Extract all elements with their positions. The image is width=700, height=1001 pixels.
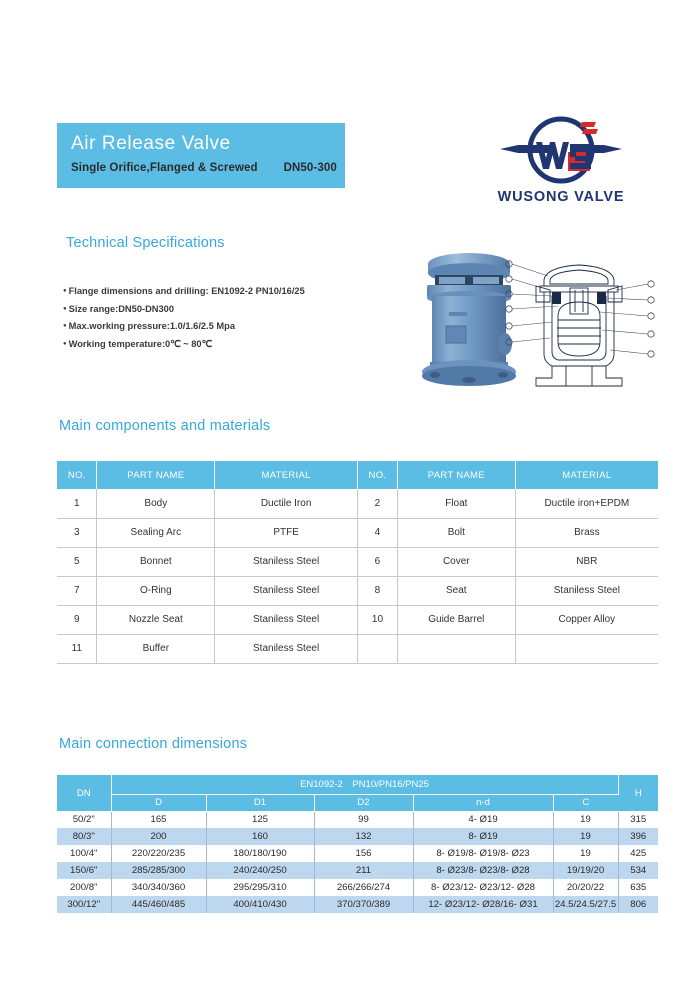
header-part-name-2: PART NAME (397, 461, 515, 489)
cell-c: 19/19/20 (553, 862, 618, 879)
cell-d1: 400/410/430 (206, 896, 314, 913)
cell-material: Brass (515, 518, 658, 547)
cell-no: 2 (357, 489, 397, 518)
table-row: 1 Body Ductile Iron 2 Float Ductile iron… (57, 489, 658, 518)
header-no-1: NO. (57, 461, 97, 489)
cell-material: Staniless Steel (515, 576, 658, 605)
header-dn: DN (57, 775, 111, 811)
table-row: 7 O-Ring Staniless Steel 8 Seat Staniles… (57, 576, 658, 605)
valve-cutaway-drawing (500, 250, 658, 390)
cell-dn: 150/6" (57, 862, 111, 879)
cell-d2: 211 (314, 862, 413, 879)
cell-part-name: Cover (397, 547, 515, 576)
cell-n-d: 4- Ø19 (413, 811, 553, 828)
cell-part-name: Nozzle Seat (97, 605, 215, 634)
table-row: 50/2" 165 125 99 4- Ø19 19 315 (57, 811, 658, 828)
cell-no: 1 (57, 489, 97, 518)
cell-c: 19 (553, 828, 618, 845)
cell-part-name: Buffer (97, 634, 215, 663)
cell-material (515, 634, 658, 663)
wusong-logo-icon (478, 112, 644, 188)
cell-material: NBR (515, 547, 658, 576)
cell-no: 5 (57, 547, 97, 576)
cell-h: 806 (618, 896, 658, 913)
cell-d1: 240/240/250 (206, 862, 314, 879)
cell-no: 10 (357, 605, 397, 634)
cell-n-d: 8- Ø19/8- Ø19/8- Ø23 (413, 845, 553, 862)
cell-no: 8 (357, 576, 397, 605)
header-material-1: MATERIAL (215, 461, 358, 489)
cell-h: 635 (618, 879, 658, 896)
table-header-row: NO. PART NAME MATERIAL NO. PART NAME MAT… (57, 461, 658, 489)
cell-dn: 80/3" (57, 828, 111, 845)
banner-subtitle: Single Orifice,Flanged & Screwed (71, 162, 258, 174)
cell-d2: 266/266/274 (314, 879, 413, 896)
header-c: C (553, 794, 618, 811)
cell-part-name: Float (397, 489, 515, 518)
cell-material: Ductile Iron (215, 489, 358, 518)
cell-no: 9 (57, 605, 97, 634)
cell-material: Staniless Steel (215, 605, 358, 634)
cell-part-name: Bonnet (97, 547, 215, 576)
table-header-row-sub: D D1 D2 n-d C (57, 794, 658, 811)
cell-n-d: 8- Ø19 (413, 828, 553, 845)
header-n-d: n-d (413, 794, 553, 811)
spec-item: Working temperature:0℃ ~ 80℃ (63, 336, 383, 354)
table-row: 5 Bonnet Staniless Steel 6 Cover NBR (57, 547, 658, 576)
table-header-row-top: DN EN1092-2 PN10/PN16/PN25 H (57, 775, 658, 794)
cell-part-name: Sealing Arc (97, 518, 215, 547)
cell-dn: 50/2" (57, 811, 111, 828)
cell-no: 6 (357, 547, 397, 576)
cell-part-name (397, 634, 515, 663)
cell-d: 220/220/235 (111, 845, 206, 862)
header-h: H (618, 775, 658, 811)
cell-no (357, 634, 397, 663)
header-d2: D2 (314, 794, 413, 811)
cell-part-name: Body (97, 489, 215, 518)
logo-brand-text: WUSONG VALVE (478, 189, 644, 205)
table-row: 150/6" 285/285/300 240/240/250 211 8- Ø2… (57, 862, 658, 879)
cell-n-d: 8- Ø23/12- Ø23/12- Ø28 (413, 879, 553, 896)
spec-item: Size range:DN50-DN300 (63, 301, 383, 319)
table-row: 80/3" 200 160 132 8- Ø19 19 396 (57, 828, 658, 845)
table-row: 3 Sealing Arc PTFE 4 Bolt Brass (57, 518, 658, 547)
table-row: 11 Buffer Staniless Steel (57, 634, 658, 663)
header-part-name-1: PART NAME (97, 461, 215, 489)
cell-h: 425 (618, 845, 658, 862)
cell-material: Staniless Steel (215, 634, 358, 663)
cell-n-d: 12- Ø23/12- Ø28/16- Ø31 (413, 896, 553, 913)
cell-material: Staniless Steel (215, 547, 358, 576)
cell-c: 19 (553, 845, 618, 862)
cell-d2: 99 (314, 811, 413, 828)
specifications-list: Flange dimensions and drilling: EN1092-2… (63, 283, 383, 353)
cell-c: 24.5/24.5/27.5 (553, 896, 618, 913)
cell-d1: 180/180/190 (206, 845, 314, 862)
cell-part-name: Guide Barrel (397, 605, 515, 634)
cell-d1: 125 (206, 811, 314, 828)
cell-n-d: 8- Ø23/8- Ø23/8- Ø28 (413, 862, 553, 879)
table-row: 100/4" 220/220/235 180/180/190 156 8- Ø1… (57, 845, 658, 862)
cell-d: 200 (111, 828, 206, 845)
connection-dimensions-table: DN EN1092-2 PN10/PN16/PN25 H D D1 D2 n-d… (57, 775, 658, 913)
header-material-2: MATERIAL (515, 461, 658, 489)
product-illustrations (405, 248, 655, 393)
cell-h: 396 (618, 828, 658, 845)
cell-dn: 300/12" (57, 896, 111, 913)
cell-d1: 160 (206, 828, 314, 845)
cell-d2: 370/370/389 (314, 896, 413, 913)
cell-part-name: Bolt (397, 518, 515, 547)
header-d1: D1 (206, 794, 314, 811)
table-row: 300/12" 445/460/485 400/410/430 370/370/… (57, 896, 658, 913)
cell-no: 4 (357, 518, 397, 547)
cell-d2: 156 (314, 845, 413, 862)
header-area: Air Release Valve Single Orifice,Flanged… (0, 0, 700, 230)
company-logo: WUSONG VALVE (478, 112, 644, 216)
spec-item: Flange dimensions and drilling: EN1092-2… (63, 283, 383, 301)
cell-dn: 100/4" (57, 845, 111, 862)
page-title: Air Release Valve (71, 132, 345, 156)
spec-item: Max.working pressure:1.0/1.6/2.5 Mpa (63, 318, 383, 336)
cell-no: 7 (57, 576, 97, 605)
valve-cross-section-drawing-icon (500, 250, 658, 390)
cell-material: Ductile iron+EPDM (515, 489, 658, 518)
cell-d1: 295/295/310 (206, 879, 314, 896)
cell-c: 20/20/22 (553, 879, 618, 896)
section-heading-technical-specifications: Technical Specifications (66, 235, 225, 251)
cell-d: 340/340/360 (111, 879, 206, 896)
cell-d2: 132 (314, 828, 413, 845)
banner-subtitle-row: Single Orifice,Flanged & Screwed DN50-30… (71, 162, 345, 174)
cell-dn: 200/8" (57, 879, 111, 896)
header-d: D (111, 794, 206, 811)
title-banner: Air Release Valve Single Orifice,Flanged… (57, 123, 345, 188)
header-standard-group: EN1092-2 PN10/PN16/PN25 (111, 775, 618, 794)
cell-part-name: O-Ring (97, 576, 215, 605)
banner-size-range: DN50-300 (284, 162, 337, 174)
section-heading-main-connection-dimensions: Main connection dimensions (59, 736, 247, 752)
cell-part-name: Seat (397, 576, 515, 605)
cell-h: 315 (618, 811, 658, 828)
logo-mark (478, 112, 644, 188)
header-no-2: NO. (357, 461, 397, 489)
cell-material: Copper Alloy (515, 605, 658, 634)
cell-no: 3 (57, 518, 97, 547)
table-row: 200/8" 340/340/360 295/295/310 266/266/2… (57, 879, 658, 896)
cell-h: 534 (618, 862, 658, 879)
cell-d: 165 (111, 811, 206, 828)
cell-d: 285/285/300 (111, 862, 206, 879)
table-row: 9 Nozzle Seat Staniless Steel 10 Guide B… (57, 605, 658, 634)
components-materials-table: NO. PART NAME MATERIAL NO. PART NAME MAT… (57, 461, 658, 664)
cell-d: 445/460/485 (111, 896, 206, 913)
cell-material: Staniless Steel (215, 576, 358, 605)
section-heading-main-components: Main components and materials (59, 418, 270, 434)
cell-material: PTFE (215, 518, 358, 547)
cell-no: 11 (57, 634, 97, 663)
cell-c: 19 (553, 811, 618, 828)
